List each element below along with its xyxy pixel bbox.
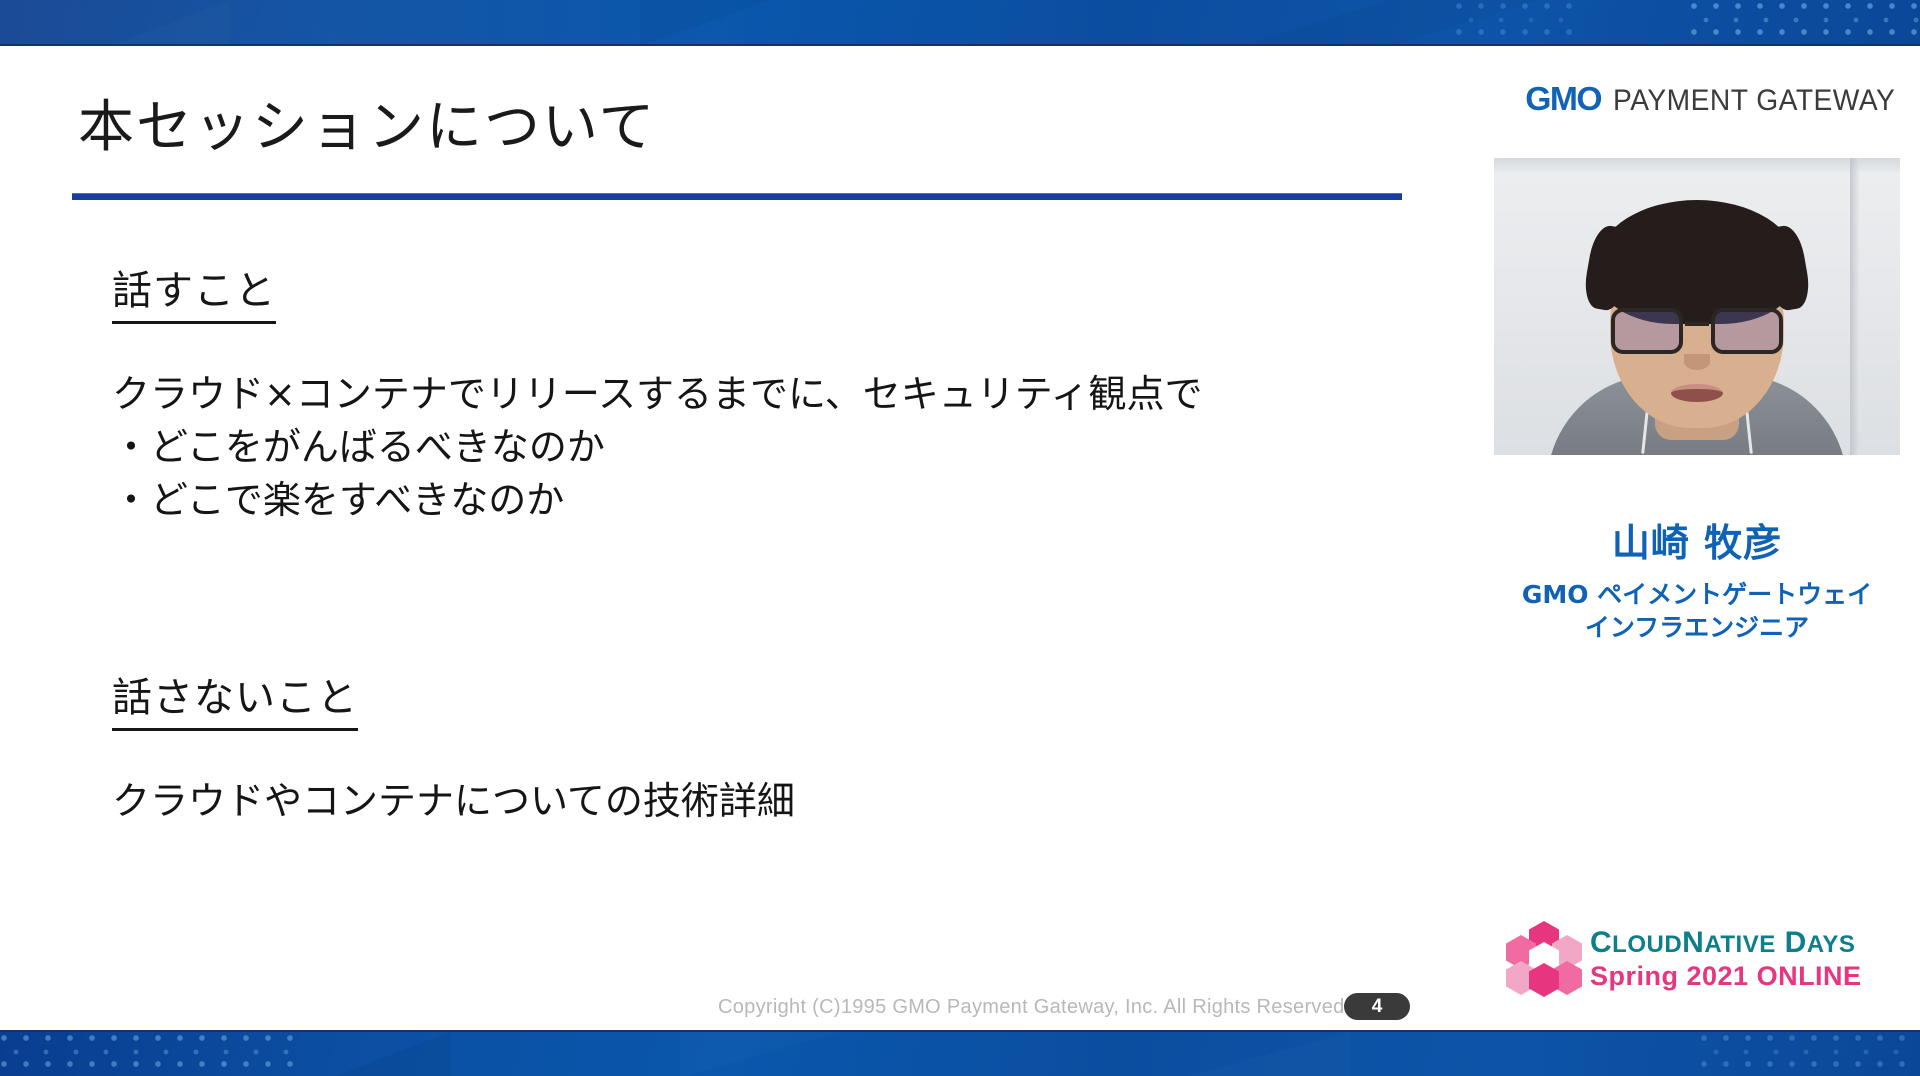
presentation-slide: 本セッションについて 話すこと クラウド×コンテナでリリースするまでに、セキュリ… — [0, 0, 1920, 1076]
band-dot-pattern — [1455, 0, 1575, 44]
cnd-line2: Spring 2021 ONLINE — [1590, 961, 1862, 991]
band-triangle — [330, 1032, 450, 1076]
body-line: ・どこで楽をすべきなのか — [112, 478, 564, 522]
cnd-d: D — [1785, 926, 1807, 959]
gmo-payment-gateway-logo: GMO PAYMENT GATEWAY — [1492, 80, 1904, 114]
speaker-role: インフラエンジニア — [1484, 611, 1910, 644]
glasses-lens-right — [1711, 308, 1783, 354]
section-heading-not-talk-about: 話さないこと — [112, 665, 358, 731]
cnd-wordmark: CLOUDNATIVE DAYS Spring 2021 ONLINE — [1590, 927, 1862, 991]
glasses-lens-left — [1611, 308, 1683, 354]
band-dot-pattern — [0, 1032, 300, 1076]
band-triangle — [1240, 0, 1390, 46]
gmo-mark-text: GMO — [1526, 80, 1602, 118]
band-dot-pattern — [1690, 0, 1920, 44]
cnd-n: N — [1682, 926, 1704, 959]
speaker-company: GMO ペイメントゲートウェイ — [1484, 578, 1910, 611]
cloudnative-days-logo: CLOUDNATIVE DAYS Spring 2021 ONLINE — [1506, 920, 1902, 998]
section-heading-talk-about: 話すこと — [112, 258, 276, 324]
body-line: クラウドやコンテナについての技術詳細 — [112, 779, 795, 823]
speaker-mouth — [1671, 384, 1723, 402]
title-underline-rule — [72, 193, 1402, 200]
bottom-decorative-band — [0, 1030, 1920, 1076]
speaker-hair — [1598, 200, 1796, 324]
body-line: クラウド×コンテナでリリースするまでに、セキュリティ観点で — [112, 372, 1203, 416]
body-line: ・どこをがんばるべきなのか — [112, 425, 605, 469]
speaker-affiliation: GMO ペイメントゲートウェイ インフラエンジニア — [1484, 578, 1910, 644]
cnd-line1: CLOUDNATIVE DAYS — [1590, 927, 1862, 961]
speaker-nose — [1684, 354, 1710, 370]
cnd-ative: ATIVE — [1704, 931, 1775, 958]
video-wall-trim — [1494, 158, 1900, 172]
cnd-hex-mark-icon — [1506, 921, 1582, 997]
cnd-loud: LOUD — [1612, 931, 1682, 958]
speaker-name: 山崎 牧彦 — [1494, 512, 1900, 567]
gmo-wordmark-text: PAYMENT GATEWAY — [1613, 84, 1895, 118]
page-number-badge: 4 — [1344, 993, 1410, 1020]
page-title: 本セッションについて — [78, 95, 656, 161]
glasses-icon — [1611, 308, 1783, 356]
section-body-not-talk-about: クラウドやコンテナについての技術詳細 — [112, 775, 795, 828]
speaker-video-thumbnail — [1494, 158, 1900, 455]
band-triangle — [640, 0, 770, 46]
band-triangle — [110, 0, 230, 46]
cnd-c: C — [1590, 926, 1612, 959]
video-wall-edge — [1850, 158, 1860, 455]
copyright-notice: Copyright (C)1995 GMO Payment Gateway, I… — [718, 996, 1350, 1019]
section-body-talk-about: クラウド×コンテナでリリースするまでに、セキュリティ観点で ・どこをがんばるべき… — [112, 368, 1203, 527]
band-dot-pattern — [1700, 1032, 1920, 1076]
band-triangle — [1180, 1032, 1350, 1076]
band-triangle — [680, 1032, 840, 1076]
cnd-ays: AYS — [1807, 931, 1856, 958]
top-decorative-band — [0, 0, 1920, 46]
glasses-bridge — [1685, 322, 1709, 326]
